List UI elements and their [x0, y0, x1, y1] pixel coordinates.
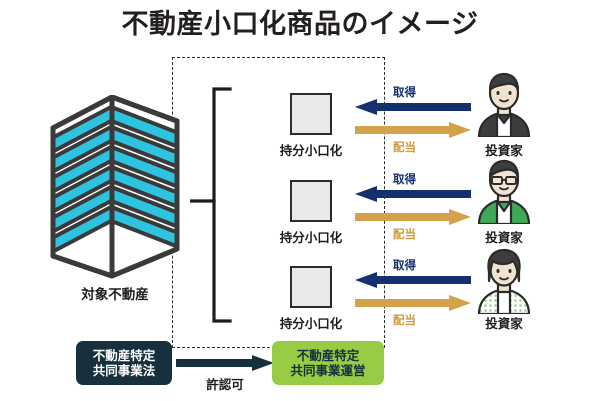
page-title: 不動産小口化商品のイメージ: [0, 8, 600, 42]
operation-box: 不動産特定 共同事業運営: [272, 341, 384, 385]
flow-label-dividend: 配当: [393, 312, 416, 328]
license-arrow: [176, 354, 274, 372]
share-label: 持分小口化: [256, 313, 366, 332]
share-box: [290, 266, 332, 308]
investor-label: 投資家: [449, 140, 559, 159]
flow-label-dividend: 配当: [393, 226, 416, 242]
acquire-arrow: [355, 271, 471, 289]
share-box: [290, 180, 332, 222]
dividend-arrow: [355, 294, 471, 312]
dividend-arrow: [355, 208, 471, 226]
diagram-canvas: 不動産小口化商品のイメージ: [0, 0, 600, 401]
investor-man-glasses-icon: [473, 158, 535, 228]
investor-label: 投資家: [449, 227, 559, 246]
operation-box-label: 不動産特定 共同事業運営: [290, 348, 365, 378]
building-icon: [50, 95, 180, 285]
share-label: 持分小口化: [256, 227, 366, 246]
flow-label-dividend: 配当: [393, 139, 416, 155]
share-label: 持分小口化: [256, 140, 366, 159]
investor-man-suit-icon: [473, 71, 535, 141]
property-label: 対象不動産: [45, 283, 185, 303]
acquire-arrow: [355, 185, 471, 203]
investor-label: 投資家: [449, 313, 559, 332]
dividend-arrow: [355, 121, 471, 139]
law-box-label: 不動産特定 共同事業法: [93, 348, 156, 378]
split-bracket: [190, 85, 240, 325]
share-box: [290, 93, 332, 135]
license-arrow-label: 許認可: [180, 374, 270, 393]
acquire-arrow: [355, 98, 471, 116]
law-box: 不動産特定 共同事業法: [76, 341, 172, 385]
investor-woman-icon: [473, 248, 535, 318]
